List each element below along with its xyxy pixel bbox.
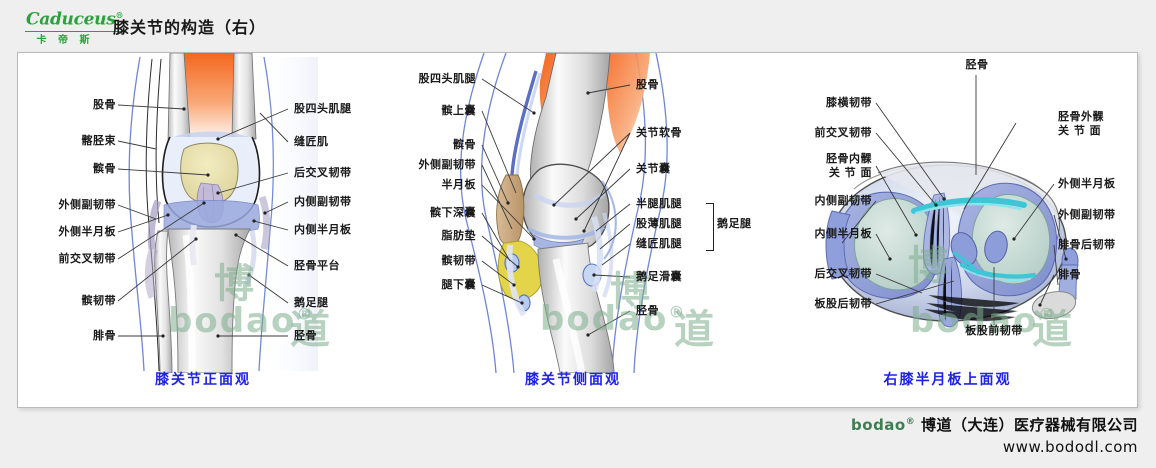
footer-company-name: 博道（大连）医疗器械有限公司 bbox=[921, 416, 1138, 434]
pes-anserinus-bracket bbox=[706, 203, 714, 251]
label-tibia-lateral: 胫骨 bbox=[636, 304, 659, 317]
label-patella-lateral: 髌骨 bbox=[388, 138, 476, 151]
logo-chinese-name: 卡 帝 斯 bbox=[25, 35, 105, 47]
footer-website: www.bododl.com bbox=[851, 438, 1138, 456]
label-lateral-meniscus-superior: 外侧半月板 bbox=[1058, 177, 1116, 190]
label-patellar-ligament: 髌韧带 bbox=[38, 294, 116, 307]
footer-company-line: bodao® 博道（大连）医疗器械有限公司 bbox=[851, 414, 1138, 435]
label-patella: 髌骨 bbox=[38, 162, 116, 175]
label-semitendinosus-tendon: 半腿肌腿 bbox=[636, 197, 682, 210]
label-pes-anserine-bursa: 鹅足滑囊 bbox=[636, 270, 682, 283]
label-medial-collateral-ligament: 内侧副韧带 bbox=[294, 195, 352, 208]
label-sartorius-tendon: 缝匠肌腿 bbox=[636, 237, 682, 250]
label-suprapatellar-bursa: 髌上囊 bbox=[388, 104, 476, 117]
label-femur-lateral: 股骨 bbox=[636, 78, 659, 91]
diagram-card: 博 bodao® 道 股骨 髂胫束 髌骨 外侧副韧带 外侧半月板 前交叉韧带 髌… bbox=[17, 52, 1138, 408]
label-posterior-fibular-ligament: 腓骨后韧带 bbox=[1058, 238, 1116, 251]
page-footer: bodao® 博道（大连）医疗器械有限公司 www.bododl.com bbox=[851, 414, 1138, 456]
label-medial-collateral-ligament-superior: 内侧副韧带 bbox=[780, 194, 872, 207]
label-pes-anserinus-group: 鹅足腿 bbox=[717, 217, 752, 230]
label-medial-tibial-condyle-surface-line1: 胫骨内髁 bbox=[780, 152, 872, 165]
label-medial-meniscus-superior: 内侧半月板 bbox=[780, 227, 872, 240]
label-quadriceps-tendon-lateral: 股四头肌腿 bbox=[388, 72, 476, 85]
label-lateral-collateral-ligament: 外侧副韧带 bbox=[28, 198, 116, 211]
panel-lateral-view: 博 bodao® 道 股四头肌腿 髌上囊 髌骨 外侧副韧带 半月板 髌下深囊 脂… bbox=[388, 53, 758, 407]
label-femur: 股骨 bbox=[38, 98, 116, 111]
panel-anterior-view: 博 bodao® 道 股骨 髂胫束 髌骨 外侧副韧带 外侧半月板 前交叉韧带 髌… bbox=[18, 53, 388, 407]
label-sartorius: 缝匠肌 bbox=[294, 135, 329, 148]
label-deep-infrapatellar-bursa: 髌下深囊 bbox=[388, 206, 476, 219]
label-fibula: 腓骨 bbox=[38, 329, 116, 342]
label-posterior-cruciate-ligament: 后交叉韧带 bbox=[294, 166, 352, 179]
label-quadriceps-tendon: 股四头肌腿 bbox=[294, 102, 352, 115]
label-gracilis-tendon: 股薄肌腿 bbox=[636, 217, 682, 230]
label-pes-anserinus: 鹅足腿 bbox=[294, 296, 329, 309]
label-articular-cartilage: 关节软骨 bbox=[636, 126, 682, 139]
label-lateral-collateral-ligament-superior: 外侧副韧带 bbox=[1058, 208, 1116, 221]
panel-superior-view: 博 bodao® 道 胫骨 膝横韧带 前交叉韧带 胫骨内髁 关 节 面 内侧副韧… bbox=[758, 53, 1137, 407]
page-header: Caduceus® 卡 帝 斯 膝关节的构造（右） bbox=[0, 0, 1156, 52]
caption-superior-view: 右膝半月板上面观 bbox=[758, 369, 1137, 389]
label-lateral-collateral-ligament-lateral: 外侧副韧带 bbox=[388, 158, 476, 171]
label-tibia-superior: 胫骨 bbox=[954, 58, 1000, 71]
label-joint-capsule: 关节囊 bbox=[636, 162, 671, 175]
caduceus-logo: Caduceus® 卡 帝 斯 bbox=[25, 6, 105, 47]
label-fibula-superior: 腓骨 bbox=[1058, 268, 1081, 281]
label-transverse-ligament: 膝横韧带 bbox=[780, 96, 872, 109]
footer-bodao-text: bodao bbox=[851, 416, 906, 434]
label-iliotibial-band: 髂胫束 bbox=[38, 134, 116, 147]
page-title: 膝关节的构造（右） bbox=[113, 14, 266, 38]
label-patellar-ligament-lateral: 髌韧带 bbox=[388, 254, 476, 267]
label-lateral-meniscus: 外侧半月板 bbox=[28, 225, 116, 238]
label-lateral-tibial-condyle-surface-line1: 胫骨外髁 bbox=[1058, 110, 1104, 123]
caption-lateral-view: 膝关节侧面观 bbox=[388, 369, 758, 389]
label-tibial-plateau: 胫骨平台 bbox=[294, 259, 340, 272]
label-meniscus: 半月板 bbox=[388, 178, 476, 191]
caption-anterior-view: 膝关节正面观 bbox=[18, 369, 388, 389]
footer-bodao-logo: bodao® bbox=[851, 416, 915, 434]
label-posterior-meniscofemoral-ligament: 板股后韧带 bbox=[780, 297, 872, 310]
label-fat-pad: 脂肪垫 bbox=[388, 229, 476, 242]
label-anterior-cruciate-ligament: 前交叉韧带 bbox=[28, 252, 116, 265]
label-medial-tibial-condyle-surface-line2: 关 节 面 bbox=[780, 166, 872, 179]
footer-registered-mark: ® bbox=[906, 417, 916, 427]
label-tibia: 胫骨 bbox=[294, 329, 317, 342]
label-medial-meniscus: 内侧半月板 bbox=[294, 223, 352, 236]
label-anterior-meniscofemoral-ligament: 板股前韧带 bbox=[936, 324, 1052, 337]
logo-wordmark: Caduceus® bbox=[25, 6, 124, 32]
label-subtendinous-bursa: 腿下囊 bbox=[388, 278, 476, 291]
logo-word-text: Caduceus bbox=[26, 10, 116, 30]
label-posterior-cruciate-ligament-superior: 后交叉韧带 bbox=[780, 267, 872, 280]
label-lateral-tibial-condyle-surface-line2: 关 节 面 bbox=[1058, 124, 1101, 137]
label-anterior-cruciate-ligament-superior: 前交叉韧带 bbox=[780, 126, 872, 139]
